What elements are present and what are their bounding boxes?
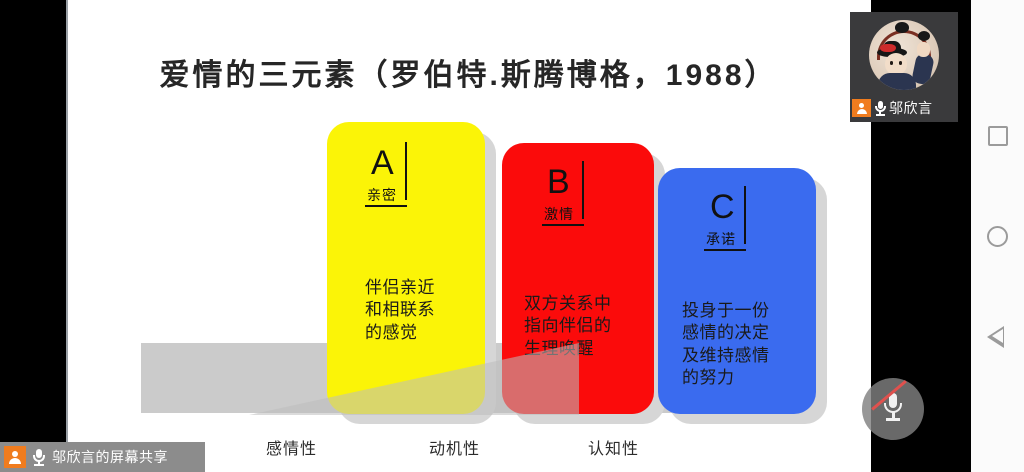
card-a-subtitle: 亲密 xyxy=(367,188,397,202)
recents-button[interactable] xyxy=(986,124,1010,148)
card-c-body: 投身于一份 感情的决定 及维持感情 的努力 xyxy=(682,300,770,390)
tile-participant-badge xyxy=(852,99,871,117)
category-label-cognitive: 认知性 xyxy=(588,435,639,459)
card-b-bracket-horizontal xyxy=(542,224,584,226)
back-button[interactable] xyxy=(986,324,1010,348)
screen-share-label: 邬欣言的屏幕共享 xyxy=(52,447,168,467)
category-label-emotional: 感情性 xyxy=(266,435,317,459)
tile-name-bar: 邬欣言 xyxy=(850,98,933,118)
mute-toggle-button[interactable] xyxy=(862,378,924,440)
card-c-subtitle: 承诺 xyxy=(706,232,736,246)
card-commitment: C 承诺 投身于一份 感情的决定 及维持感情 的努力 xyxy=(658,168,816,414)
card-a-letter: A xyxy=(371,146,394,180)
participant-badge xyxy=(4,446,26,468)
square-icon xyxy=(988,126,1008,146)
card-a-bracket-vertical xyxy=(405,142,407,200)
card-a-body: 伴侣亲近 和相联系 的感觉 xyxy=(365,277,435,344)
slide-left-border xyxy=(66,0,68,472)
person-icon xyxy=(856,103,867,114)
circle-icon xyxy=(987,226,1008,247)
card-b-subtitle: 激情 xyxy=(544,207,574,221)
card-c-bracket-vertical xyxy=(744,186,746,244)
slide-title: 爱情的三元素（罗伯特.斯腾博格，1988） xyxy=(66,50,871,94)
home-button[interactable] xyxy=(986,224,1010,248)
android-nav-bar xyxy=(971,0,1024,472)
participant-video-tile[interactable]: 邬欣言 xyxy=(850,12,958,122)
screen-share-bar[interactable]: 邬欣言的屏幕共享 xyxy=(0,442,205,472)
shared-screen-content: 爱情的三元素（罗伯特.斯腾博格，1988） A 亲密 伴侣亲近 和相联系 的感觉… xyxy=(66,0,871,472)
card-a-bracket-horizontal xyxy=(365,205,407,207)
card-c-letter: C xyxy=(710,190,735,224)
avatar xyxy=(869,20,939,90)
person-icon xyxy=(9,451,22,464)
microphone-icon xyxy=(32,449,46,466)
card-b-letter: B xyxy=(547,165,570,199)
card-b-bracket-vertical xyxy=(582,161,584,219)
category-label-motivational: 动机性 xyxy=(429,435,480,459)
card-c-bracket-horizontal xyxy=(704,249,746,251)
microphone-icon xyxy=(874,101,886,116)
participant-name: 邬欣言 xyxy=(889,98,933,118)
phone-screen: 爱情的三元素（罗伯特.斯腾博格，1988） A 亲密 伴侣亲近 和相联系 的感觉… xyxy=(0,0,1024,472)
